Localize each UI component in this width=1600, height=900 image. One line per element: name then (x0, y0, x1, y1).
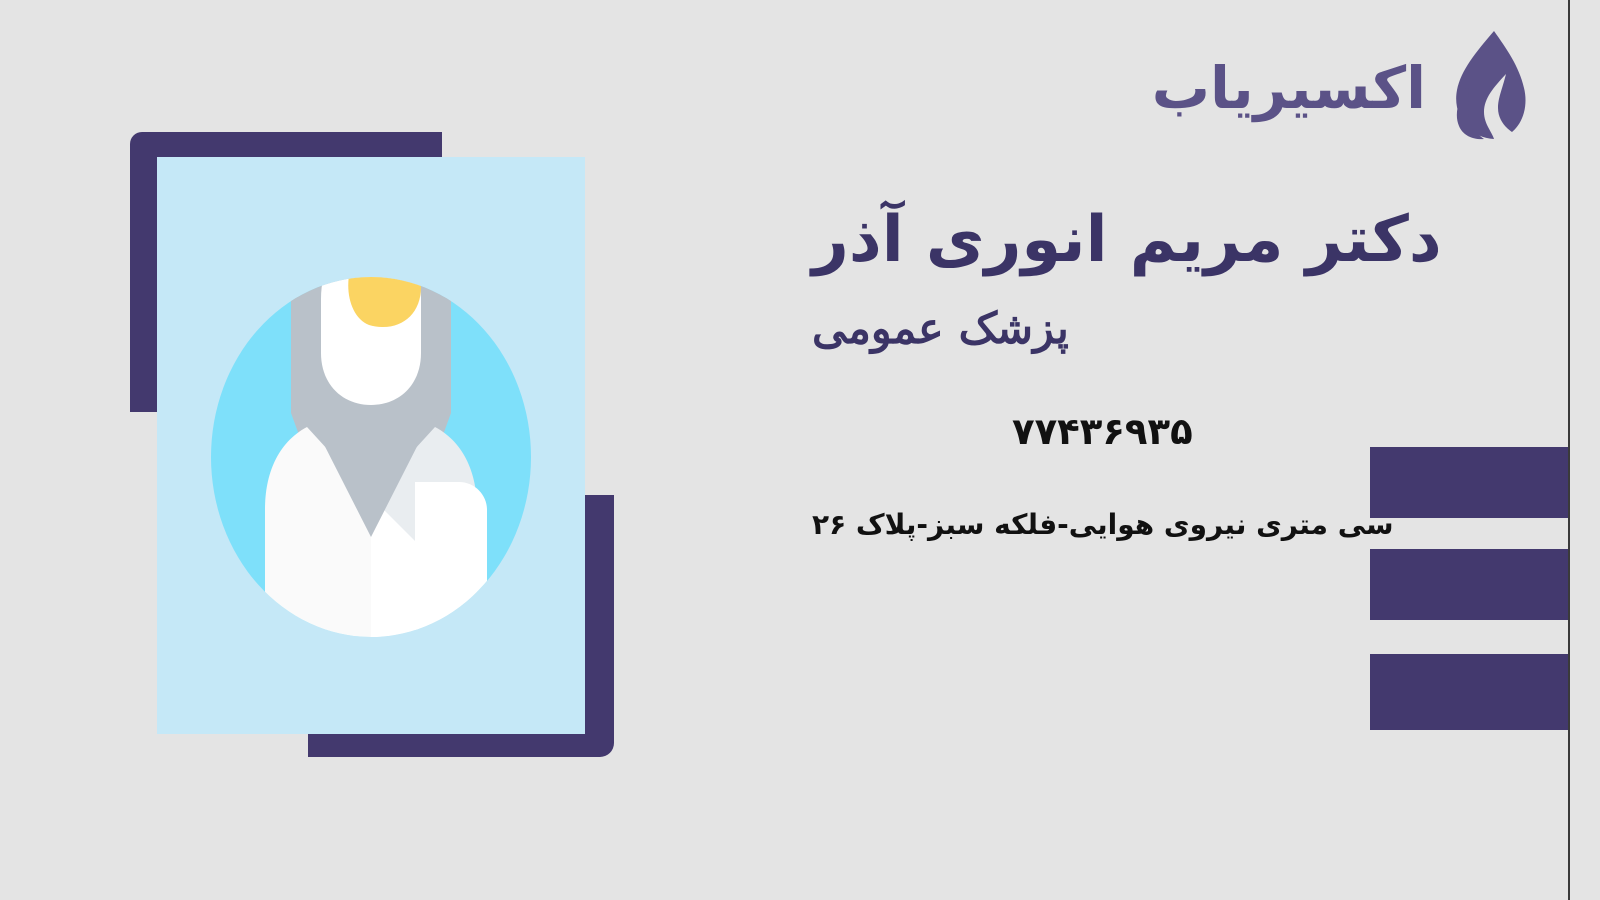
doctor-address: سی متری نیروی هوایی-فلکه سبز-پلاک ۲۶ (812, 505, 1532, 544)
brand-name: اکسیریاب (1152, 59, 1426, 117)
flame-icon (1432, 28, 1532, 147)
decor-bar-3 (1370, 654, 1568, 730)
coat-sleeve (415, 482, 487, 657)
doctor-illustration (130, 132, 620, 757)
doctor-phone[interactable]: ۷۷۴۳۶۹۳۵ (812, 410, 1532, 453)
page-edge-margin (1570, 0, 1600, 900)
doctor-name: دکتر مریم انوری آذر (812, 200, 1532, 280)
avatar (157, 157, 585, 734)
decor-bar-2 (1370, 549, 1568, 620)
hair-fringe (348, 239, 421, 327)
doctor-specialty: پزشک عمومی (812, 302, 1532, 358)
doctor-info-block: دکتر مریم انوری آذر پزشک عمومی ۷۷۴۳۶۹۳۵ … (812, 200, 1532, 544)
business-card: اکسیریاب دکتر مریم انوری آذر پزشک عمومی … (0, 0, 1600, 900)
brand-logo: اکسیریاب (1152, 28, 1532, 147)
